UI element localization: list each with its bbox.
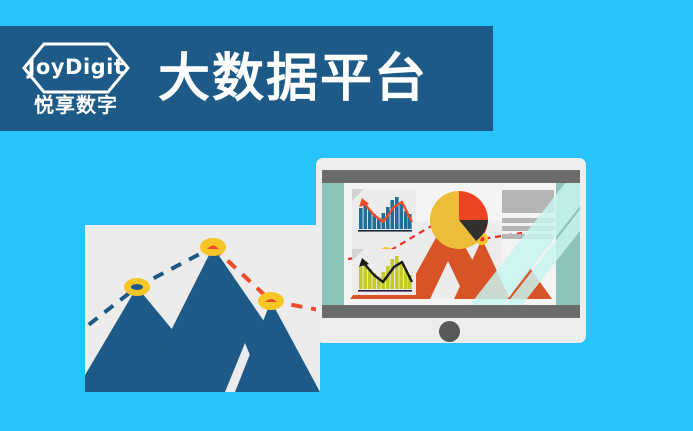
yellow-bar-chart-card[interactable] [352, 249, 416, 295]
axis-baseline [358, 290, 412, 292]
placeholder-line [502, 234, 554, 239]
placeholder-line [502, 218, 554, 223]
blue-mountain-svg [85, 225, 320, 392]
placeholder-line [502, 226, 554, 231]
bar-series [359, 256, 412, 289]
logo-chinese-name: 悦享数字 [34, 96, 118, 116]
pie-slice-b [459, 191, 488, 220]
screen-side-band-left [322, 183, 344, 305]
monitor-screen [322, 183, 580, 305]
bar-series [359, 197, 412, 229]
monitor-top-bezel [322, 170, 580, 183]
logo-english-name: JoyDigit [28, 57, 125, 78]
orange-peak-far-right [508, 268, 552, 299]
dashboard-surface [344, 183, 556, 305]
screen-side-band-right [556, 183, 580, 305]
desktop-monitor [316, 158, 586, 343]
blue-mountain-area-chart [85, 225, 320, 392]
axis-baseline [358, 230, 412, 232]
placeholder-image [502, 190, 554, 213]
blue-bar-chart-svg [352, 189, 416, 235]
data-marker-core [131, 284, 143, 290]
monitor-indicator-dot [439, 321, 460, 342]
poster-canvas: JoyDigit 悦享数字 大数据平台 [0, 0, 693, 431]
text-placeholder-block [502, 190, 554, 240]
header-banner: JoyDigit 悦享数字 大数据平台 [0, 26, 493, 131]
pie-chart[interactable] [428, 189, 490, 251]
blue-bar-chart-card[interactable] [352, 189, 416, 235]
yellow-bar-chart-svg [352, 249, 416, 295]
logo-hexagon-icon: JoyDigit [21, 42, 131, 94]
brand-logo: JoyDigit 悦享数字 [12, 42, 140, 116]
monitor-bottom-bezel [322, 305, 580, 318]
page-title: 大数据平台 [158, 53, 428, 105]
